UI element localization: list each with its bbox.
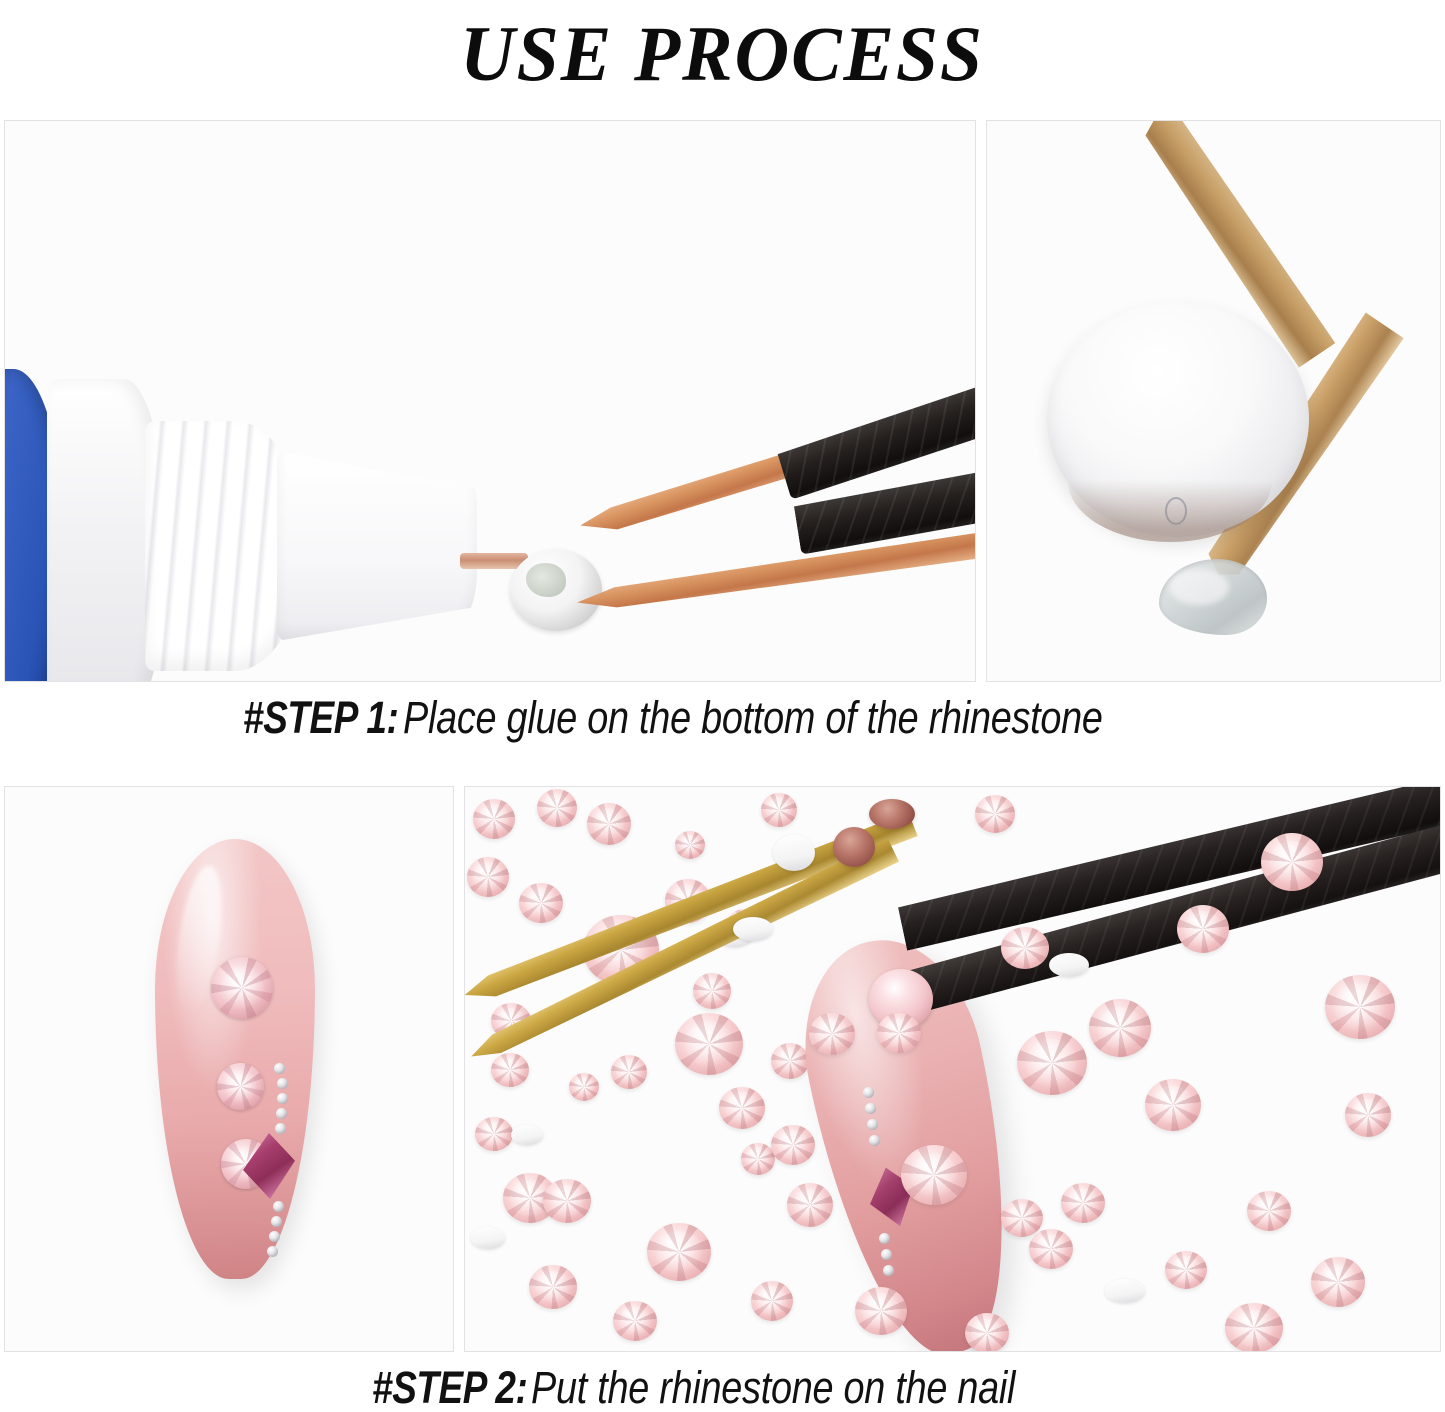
nail-bead: [867, 1119, 878, 1130]
rhinestone-flat-back: [1049, 953, 1089, 977]
scattered-rhinestone: [475, 1117, 513, 1151]
step-2-caption: #STEP 2:Put the rhinestone on the nail: [0, 1362, 1445, 1412]
scattered-rhinestone: [529, 1265, 577, 1309]
scattered-rhinestone: [965, 1313, 1009, 1352]
scattered-rhinestone: [1177, 905, 1229, 953]
step-1-caption: #STEP 1:Place glue on the bottom of the …: [0, 692, 1445, 744]
glue-bead: [1159, 559, 1267, 635]
scattered-rhinestone: [1029, 1229, 1073, 1269]
rhinestone-with-glue: [510, 549, 602, 631]
infographic-page: USE PROCESS #STEP 1:Place g: [0, 0, 1445, 1412]
rhinestone-flat-back: [1047, 301, 1309, 537]
rhinestone-flat-back: [773, 835, 815, 871]
scattered-rhinestone: [613, 1301, 657, 1341]
nail-rhinestone-medium: [217, 1063, 264, 1110]
scattered-rhinestone-large: [1017, 1031, 1087, 1095]
scattered-rhinestone: [719, 1087, 765, 1129]
scattered-rhinestone: [1345, 1093, 1391, 1137]
scattered-rhinestone: [1311, 1257, 1365, 1307]
rhinestone-flat-back: [1105, 1279, 1145, 1303]
scattered-rhinestone: [1001, 1199, 1043, 1237]
glue-bottle-tip: [277, 451, 477, 641]
rhinestone-flat-back: [471, 1227, 505, 1249]
nail-bead: [269, 1231, 280, 1242]
scattered-rhinestone: [741, 1143, 775, 1175]
nail-bead: [863, 1087, 874, 1098]
panel-glue-bottle-tweezers: [4, 120, 976, 682]
nail-bead: [865, 1103, 876, 1114]
panel-finished-nail: [4, 786, 454, 1352]
scattered-rhinestone: [761, 793, 797, 827]
nail-bead: [881, 1249, 892, 1260]
scattered-rhinestone: [537, 789, 577, 827]
nail-bead: [273, 1201, 284, 1212]
scattered-rhinestone: [473, 799, 515, 839]
scattered-rhinestone: [1165, 1251, 1207, 1289]
scattered-rhinestone: [809, 1013, 855, 1055]
rhinestone-flat-back: [511, 1125, 543, 1145]
scattered-rhinestone: [1225, 1303, 1283, 1352]
nail-bead: [883, 1265, 894, 1276]
nail-bead: [277, 1093, 288, 1104]
scattered-rhinestone: [1261, 833, 1323, 891]
scattered-rhinestone: [1089, 999, 1151, 1057]
tweezer-upper-grip: [775, 339, 976, 500]
step-1-label: #STEP 1:: [243, 692, 398, 744]
scattered-rhinestone: [855, 1287, 907, 1335]
scattered-rhinestone: [1145, 1079, 1201, 1131]
scattered-rhinestone: [771, 1043, 809, 1079]
nail-bead: [276, 1108, 287, 1119]
scattered-rhinestone: [877, 1013, 921, 1053]
scattered-rhinestone: [491, 1053, 529, 1087]
scattered-rhinestone: [787, 1183, 833, 1227]
nail-bead: [869, 1135, 880, 1146]
scattered-rhinestone-large: [675, 1013, 743, 1075]
scattered-rhinestone: [587, 803, 631, 845]
nail-bead: [274, 1063, 285, 1074]
scattered-rhinestone-large: [901, 1145, 967, 1205]
scattered-rhinestone: [771, 1125, 815, 1165]
nail-bead: [267, 1246, 278, 1257]
decorated-pink-nail: [155, 839, 315, 1279]
rhinestone-flat-back: [733, 917, 773, 941]
panel-placing-rhinestone: [464, 786, 1441, 1352]
step-1-text: Place glue on the bottom of the rhinesto…: [403, 692, 1103, 744]
scattered-rhinestone: [693, 973, 731, 1009]
page-title: USE PROCESS: [0, 0, 1445, 108]
step-2-text: Put the rhinestone on the nail: [531, 1362, 1015, 1412]
page-title-text: USE PROCESS: [461, 15, 985, 93]
scattered-rhinestone: [1001, 927, 1049, 969]
nail-bead: [271, 1216, 282, 1227]
nail-bead: [879, 1233, 890, 1244]
scattered-rhinestone-large: [1325, 975, 1395, 1039]
nail-rhinestone-large: [211, 957, 273, 1019]
scattered-rhinestone: [1061, 1183, 1105, 1223]
step-2-panel-row: [4, 786, 1441, 1352]
scattered-rhinestone-large: [647, 1223, 711, 1281]
scattered-rhinestone-dark: [869, 799, 915, 829]
scattered-rhinestone: [751, 1281, 793, 1321]
scattered-rhinestone: [543, 1179, 591, 1223]
scattered-rhinestone: [975, 795, 1015, 833]
scattered-rhinestone: [611, 1055, 647, 1089]
scattered-rhinestone-dark: [833, 827, 875, 867]
panel-stone-closeup: [986, 120, 1441, 682]
scattered-rhinestone: [1247, 1191, 1291, 1231]
step-2-label: #STEP 2:: [372, 1362, 527, 1412]
scattered-rhinestone: [675, 831, 705, 859]
scattered-rhinestone: [569, 1073, 599, 1101]
nail-bead: [275, 1123, 286, 1134]
tweezer-lower-arm-icon: [575, 529, 976, 615]
nail-bead: [277, 1078, 288, 1089]
step-1-panel-row: [4, 120, 1441, 682]
scattered-rhinestone: [519, 883, 563, 923]
glue-bubble: [1165, 497, 1187, 525]
scattered-rhinestone: [467, 857, 509, 897]
